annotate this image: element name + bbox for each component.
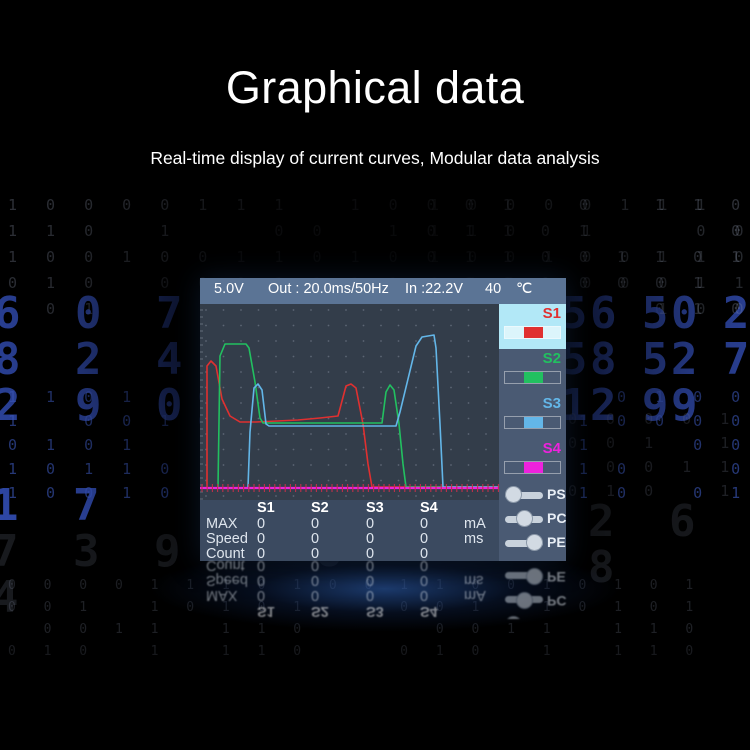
voltage-readout: 5.0V <box>214 281 244 297</box>
measurement-table: S1S2S3S4MAX0000mASpeed0000msCount0000 <box>200 500 499 561</box>
legend-label: S4 <box>543 440 561 457</box>
toggle-label: PS <box>547 617 566 619</box>
bottom-fade-overlay <box>0 638 750 750</box>
toggle-thumb[interactable] <box>526 568 543 585</box>
table-cell: 0 <box>311 516 319 532</box>
legend-row-s1[interactable]: S1 <box>499 304 566 349</box>
toggle-row-pc[interactable]: PC <box>499 587 566 611</box>
toggle-row-ps[interactable]: PS <box>499 611 566 619</box>
legend-row-s2[interactable]: S2 <box>499 349 566 394</box>
table-column-header: S2 <box>311 500 329 516</box>
table-cell: 0 <box>257 516 265 532</box>
table-cell: 0 <box>366 546 374 562</box>
current-curve-plot[interactable] <box>200 304 499 500</box>
input-readout: In :22.2V <box>405 281 463 297</box>
plot-series-s2 <box>218 344 499 487</box>
table-cell: 0 <box>311 561 319 573</box>
table-cell: 0 <box>311 587 319 603</box>
table-column-header: S2 <box>311 603 329 619</box>
toggle-label: PE <box>547 534 566 550</box>
table-cell: 0 <box>257 587 265 603</box>
table-cell: 0 <box>420 561 428 573</box>
table-cell: 0 <box>366 561 374 573</box>
table-cell: 0 <box>420 587 428 603</box>
slider-thumb[interactable] <box>524 372 543 383</box>
output-readout: Out : 20.0ms/50Hz <box>268 281 389 297</box>
toggle-thumb[interactable] <box>505 616 522 619</box>
legend-slider-s3[interactable] <box>504 416 561 429</box>
page-title: Graphical data <box>0 62 750 114</box>
slider-thumb[interactable] <box>524 327 543 338</box>
table-cell: 0 <box>420 572 428 588</box>
legend-row-s3[interactable]: S3 <box>499 394 566 439</box>
table-cell: 0 <box>420 546 428 562</box>
table-row-unit: mA <box>464 516 486 532</box>
table-cell: 0 <box>311 572 319 588</box>
temperature-value: 40 <box>485 281 501 297</box>
table-cell: 0 <box>257 572 265 588</box>
table-row-label: MAX <box>206 516 237 532</box>
toggle-thumb[interactable] <box>505 486 522 503</box>
legend-label: S3 <box>543 395 561 412</box>
table-column-header: S4 <box>420 500 438 516</box>
toggle-row-pe[interactable]: PE <box>499 532 566 556</box>
toggle-thumb[interactable] <box>516 592 533 609</box>
table-cell: 0 <box>257 561 265 573</box>
plot-gridlines <box>205 309 487 497</box>
table-cell: 0 <box>257 531 265 547</box>
table-row-unit: ms <box>464 572 483 588</box>
toggle-label: PC <box>547 593 566 609</box>
table-row-label: Count <box>206 561 245 573</box>
slider-thumb[interactable] <box>524 417 543 428</box>
table-column-header: S1 <box>257 603 275 619</box>
legend-label: S2 <box>543 350 561 367</box>
channel-legend: S1S2S3S4PSPCPE <box>499 304 566 561</box>
table-cell: 0 <box>257 546 265 562</box>
toggle-row-pe[interactable]: PE <box>499 563 566 587</box>
toggle-label: PS <box>547 486 566 502</box>
table-row-label: Speed <box>206 531 248 547</box>
table-column-header: S3 <box>366 603 384 619</box>
table-row-unit: mA <box>464 587 486 603</box>
legend-slider-s4[interactable] <box>504 461 561 474</box>
plot-canvas <box>200 304 499 500</box>
legend-row-s4[interactable]: S4 <box>499 439 566 484</box>
device-screen: 5.0V Out : 20.0ms/50Hz In :22.2V 40 ℃ S1… <box>200 278 566 561</box>
temperature-unit: ℃ <box>516 281 532 297</box>
toggle-thumb[interactable] <box>526 534 543 551</box>
table-cell: 0 <box>366 572 374 588</box>
toggle-thumb[interactable] <box>516 510 533 527</box>
table-row-label: Speed <box>206 572 248 588</box>
toggle-row-ps[interactable]: PS <box>499 484 566 508</box>
table-cell: 0 <box>420 516 428 532</box>
reflection-legend: S1S2S3S4PSPCPE <box>499 561 566 619</box>
table-column-header: S3 <box>366 500 384 516</box>
toggle-label: PC <box>547 510 566 526</box>
toggle-label: PE <box>547 569 566 585</box>
table-cell: 0 <box>366 516 374 532</box>
table-cell: 0 <box>420 531 428 547</box>
toggle-row-pc[interactable]: PC <box>499 508 566 532</box>
plot-series-s3 <box>248 335 499 487</box>
plot-y-axis-ticks <box>200 310 203 499</box>
table-row-unit: ms <box>464 531 483 547</box>
table-cell: 0 <box>366 531 374 547</box>
table-row-label: MAX <box>206 587 237 603</box>
table-cell: 0 <box>311 546 319 562</box>
slider-thumb[interactable] <box>524 462 543 473</box>
table-column-header: S1 <box>257 500 275 516</box>
table-column-header: S4 <box>420 603 438 619</box>
table-cell: 0 <box>366 587 374 603</box>
table-cell: 0 <box>311 531 319 547</box>
table-row-label: Count <box>206 546 245 562</box>
legend-slider-s1[interactable] <box>504 326 561 339</box>
legend-label: S1 <box>543 305 561 322</box>
status-bar: 5.0V Out : 20.0ms/50Hz In :22.2V 40 ℃ <box>200 278 566 304</box>
screen-reflection: S1S2S3S4MAX0000mASpeed0000msCount0000S1S… <box>200 561 566 619</box>
page-subtitle: Real-time display of current curves, Mod… <box>0 148 750 169</box>
legend-slider-s2[interactable] <box>504 371 561 384</box>
